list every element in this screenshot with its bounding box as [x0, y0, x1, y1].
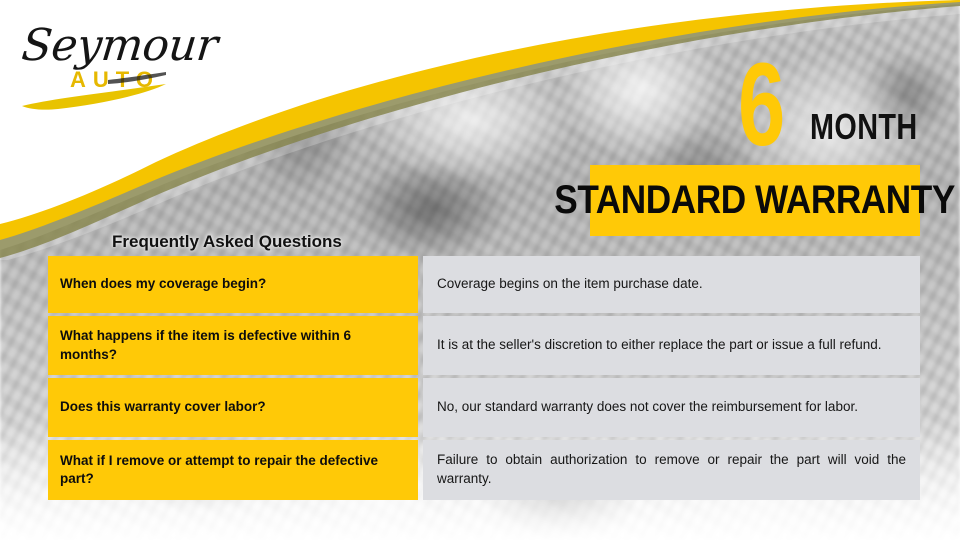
table-row: When does my coverage begin? Coverage be… — [48, 256, 920, 313]
faq-answer-text: Coverage begins on the item purchase dat… — [437, 275, 906, 294]
faq-question-cell: What if I remove or attempt to repair th… — [48, 440, 418, 500]
logo-swoosh-icon — [16, 70, 192, 112]
seymour-auto-logo: Seymour AUTO — [14, 14, 194, 110]
faq-table: When does my coverage begin? Coverage be… — [48, 256, 920, 500]
faq-question-cell: Does this warranty cover labor? — [48, 378, 418, 437]
duration-unit: MONTH — [810, 106, 918, 148]
faq-section-title: Frequently Asked Questions — [112, 232, 342, 252]
table-row: What happens if the item is defective wi… — [48, 316, 920, 375]
faq-answer-cell: Failure to obtain authorization to remov… — [423, 440, 920, 500]
standard-warranty-banner: STANDARD WARRANTY — [590, 165, 920, 236]
faq-answer-cell: No, our standard warranty does not cover… — [423, 378, 920, 437]
standard-warranty-label: STANDARD WARRANTY — [555, 178, 956, 223]
warranty-duration-headline: 6 MONTH — [738, 52, 938, 162]
table-row: Does this warranty cover labor? No, our … — [48, 378, 920, 437]
faq-answer-text: No, our standard warranty does not cover… — [437, 398, 906, 417]
faq-answer-cell: Coverage begins on the item purchase dat… — [423, 256, 920, 313]
faq-answer-text: Failure to obtain authorization to remov… — [437, 451, 906, 489]
faq-question-cell: When does my coverage begin? — [48, 256, 418, 313]
faq-question-cell: What happens if the item is defective wi… — [48, 316, 418, 375]
duration-number: 6 — [738, 46, 784, 164]
warranty-slide: Seymour AUTO 6 MONTH STANDARD WARRANTY F… — [0, 0, 960, 540]
faq-answer-cell: It is at the seller's discretion to eith… — [423, 316, 920, 375]
table-row: What if I remove or attempt to repair th… — [48, 440, 920, 500]
faq-answer-text: It is at the seller's discretion to eith… — [437, 336, 906, 355]
logo-wordmark: Seymour — [19, 20, 219, 71]
